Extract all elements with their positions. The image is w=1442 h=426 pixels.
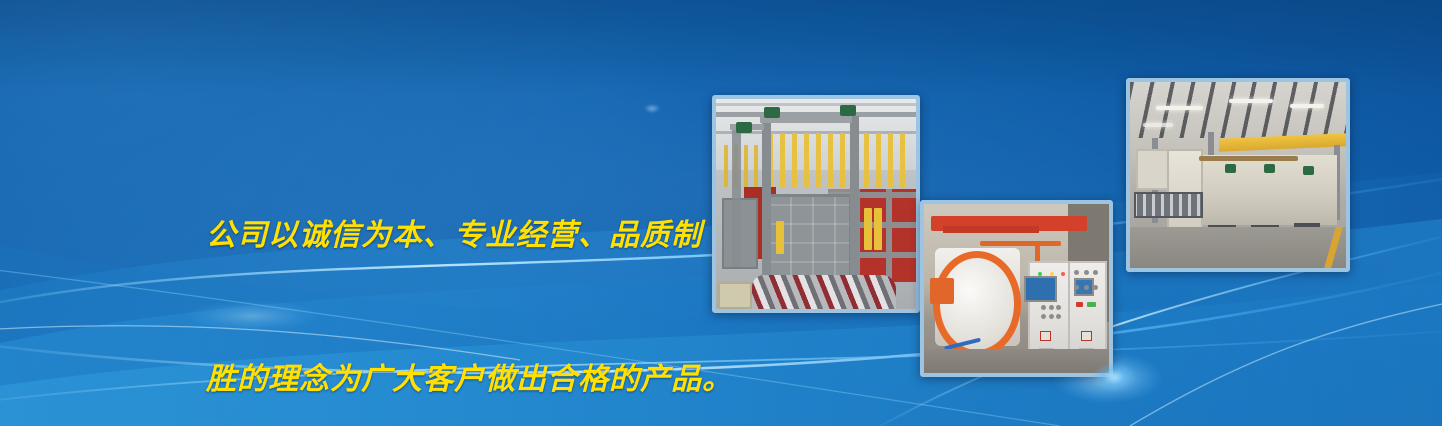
company-slogan-banner: 公司以诚信为本、专业经营、品质制 胜的理念为广大客户做出合格的产品。 主要产品：… — [0, 0, 1442, 426]
light-flare-icon — [644, 104, 660, 113]
photo-pit-furnace-line[interactable] — [712, 95, 920, 313]
photo-vacuum-furnace[interactable] — [920, 200, 1113, 377]
photo-pit-furnace-image — [716, 99, 916, 309]
slogan-line-2: 胜的理念为广大客户做出合格的产品。 — [206, 356, 726, 404]
slogan-text-block: 公司以诚信为本、专业经营、品质制 胜的理念为广大客户做出合格的产品。 主要产品：… — [206, 116, 726, 426]
photo-continuous-furnace-image — [1130, 82, 1346, 268]
photo-continuous-furnace-line[interactable] — [1126, 78, 1350, 272]
slogan-line-1: 公司以诚信为本、专业经营、品质制 — [206, 212, 726, 260]
photo-vacuum-furnace-image — [924, 204, 1109, 373]
